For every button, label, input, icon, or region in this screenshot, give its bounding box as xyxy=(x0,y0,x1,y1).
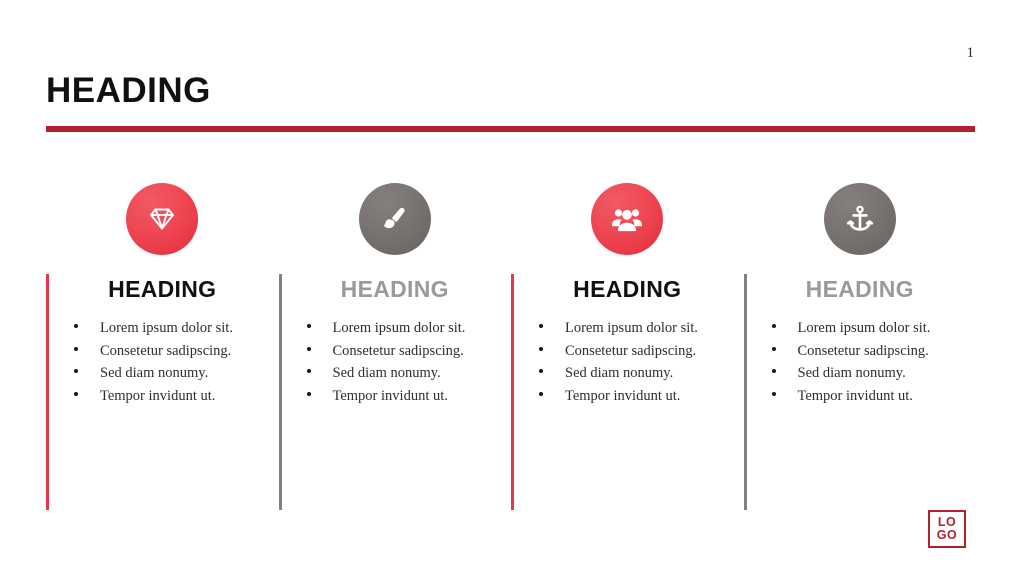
title-underline-rule xyxy=(46,126,975,132)
bullet-text: Sed diam nonumy. xyxy=(798,362,977,385)
bullet-text: Sed diam nonumy. xyxy=(565,362,744,385)
bullet-text: Lorem ipsum dolor sit. xyxy=(798,317,977,340)
icon-circle-4 xyxy=(824,183,896,255)
bullet-dot-icon xyxy=(307,347,311,351)
column-heading-1: HEADING xyxy=(46,277,279,302)
paintbrush-icon xyxy=(377,201,413,237)
logo: LO GO xyxy=(928,510,966,548)
logo-line-2: GO xyxy=(937,529,957,542)
bullet-dot-icon xyxy=(307,369,311,373)
bullet-text: Lorem ipsum dolor sit. xyxy=(100,317,279,340)
list-item: Lorem ipsum dolor sit. xyxy=(279,317,512,340)
list-item: Consetetur sadipscing. xyxy=(511,340,744,363)
icon-circle-2 xyxy=(359,183,431,255)
bullet-text: Consetetur sadipscing. xyxy=(565,340,744,363)
icon-wrap-4 xyxy=(744,175,977,263)
list-item: Consetetur sadipscing. xyxy=(744,340,977,363)
bullet-dot-icon xyxy=(74,369,78,373)
list-item: Consetetur sadipscing. xyxy=(279,340,512,363)
bullet-text: Tempor invidunt ut. xyxy=(333,385,512,408)
icon-wrap-1 xyxy=(46,175,279,263)
bullet-dot-icon xyxy=(74,347,78,351)
list-item: Tempor invidunt ut. xyxy=(46,385,279,408)
bullet-dot-icon xyxy=(307,324,311,328)
icon-circle-1 xyxy=(126,183,198,255)
list-item: Sed diam nonumy. xyxy=(46,362,279,385)
bullet-text: Tempor invidunt ut. xyxy=(100,385,279,408)
columns-container: HEADING Lorem ipsum dolor sit. Consetetu… xyxy=(46,175,976,515)
bullet-text: Sed diam nonumy. xyxy=(333,362,512,385)
bullet-text: Consetetur sadipscing. xyxy=(100,340,279,363)
bullet-dot-icon xyxy=(772,324,776,328)
icon-wrap-3 xyxy=(511,175,744,263)
bullet-dot-icon xyxy=(772,369,776,373)
page-title: HEADING xyxy=(46,72,211,111)
column-heading-3: HEADING xyxy=(511,277,744,302)
bullet-list-3: Lorem ipsum dolor sit. Consetetur sadips… xyxy=(511,317,744,407)
bullet-dot-icon xyxy=(772,347,776,351)
page-number: 1 xyxy=(967,46,975,61)
list-item: Lorem ipsum dolor sit. xyxy=(511,317,744,340)
column-4: HEADING Lorem ipsum dolor sit. Consetetu… xyxy=(744,175,977,515)
users-group-icon xyxy=(608,200,646,238)
bullet-dot-icon xyxy=(539,347,543,351)
bullet-dot-icon xyxy=(74,392,78,396)
list-item: Lorem ipsum dolor sit. xyxy=(46,317,279,340)
slide-canvas: 1 HEADING xyxy=(0,0,1022,575)
column-3: HEADING Lorem ipsum dolor sit. Consetetu… xyxy=(511,175,744,515)
column-heading-4: HEADING xyxy=(744,277,977,302)
icon-circle-3 xyxy=(591,183,663,255)
bullet-text: Consetetur sadipscing. xyxy=(333,340,512,363)
bullet-dot-icon xyxy=(772,392,776,396)
bullet-dot-icon xyxy=(307,392,311,396)
bullet-text: Tempor invidunt ut. xyxy=(798,385,977,408)
bullet-list-2: Lorem ipsum dolor sit. Consetetur sadips… xyxy=(279,317,512,407)
list-item: Lorem ipsum dolor sit. xyxy=(744,317,977,340)
column-1: HEADING Lorem ipsum dolor sit. Consetetu… xyxy=(46,175,279,515)
list-item: Consetetur sadipscing. xyxy=(46,340,279,363)
bullet-list-1: Lorem ipsum dolor sit. Consetetur sadips… xyxy=(46,317,279,407)
anchor-icon xyxy=(842,201,878,237)
list-item: Sed diam nonumy. xyxy=(279,362,512,385)
bullet-list-4: Lorem ipsum dolor sit. Consetetur sadips… xyxy=(744,317,977,407)
bullet-dot-icon xyxy=(539,324,543,328)
icon-wrap-2 xyxy=(279,175,512,263)
diamond-icon xyxy=(144,201,180,237)
bullet-text: Tempor invidunt ut. xyxy=(565,385,744,408)
bullet-dot-icon xyxy=(539,392,543,396)
list-item: Tempor invidunt ut. xyxy=(279,385,512,408)
list-item: Tempor invidunt ut. xyxy=(744,385,977,408)
bullet-text: Lorem ipsum dolor sit. xyxy=(565,317,744,340)
bullet-text: Sed diam nonumy. xyxy=(100,362,279,385)
list-item: Sed diam nonumy. xyxy=(511,362,744,385)
column-2: HEADING Lorem ipsum dolor sit. Consetetu… xyxy=(279,175,512,515)
list-item: Sed diam nonumy. xyxy=(744,362,977,385)
list-item: Tempor invidunt ut. xyxy=(511,385,744,408)
bullet-text: Lorem ipsum dolor sit. xyxy=(333,317,512,340)
bullet-dot-icon xyxy=(539,369,543,373)
column-heading-2: HEADING xyxy=(279,277,512,302)
bullet-text: Consetetur sadipscing. xyxy=(798,340,977,363)
bullet-dot-icon xyxy=(74,324,78,328)
